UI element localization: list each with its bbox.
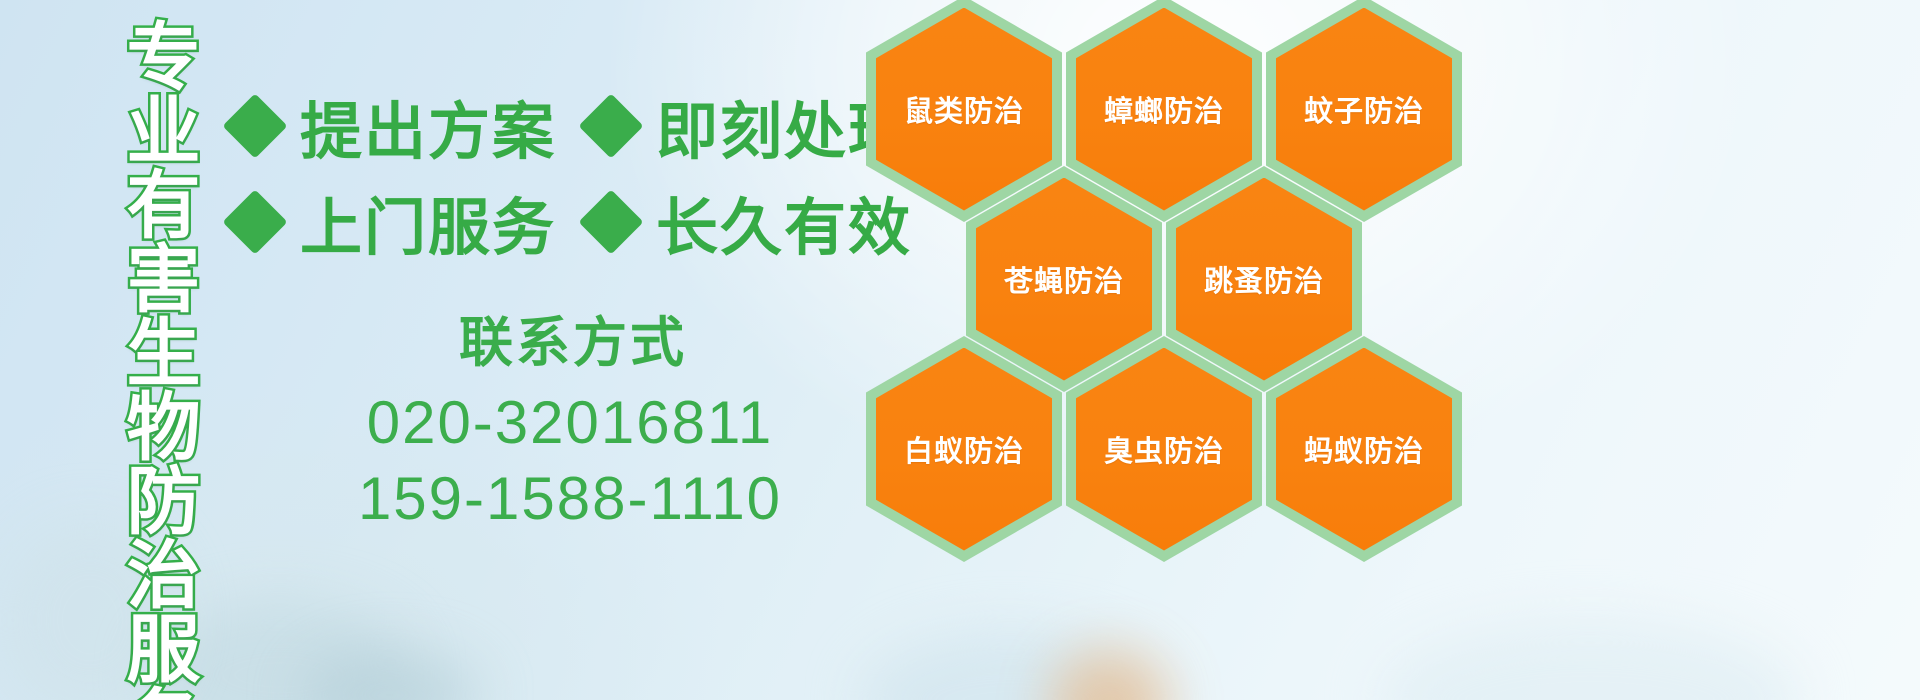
background-blur-blob <box>860 630 1160 700</box>
hex-label: 臭虫防治 <box>1104 428 1224 470</box>
diamond-bullet-icon <box>578 189 643 254</box>
hex-inner: 蚂蚁防治 <box>1276 348 1452 551</box>
slogan-item-label: 提出方案 <box>300 81 556 171</box>
vertical-headline: 专业有害生物防治服务 <box>104 18 196 658</box>
slogan-row: 上门服务 长久有效 <box>232 174 872 270</box>
hex-inner: 鼠类防治 <box>876 8 1052 211</box>
slogan-row: 提出方案 即刻处理 <box>232 78 872 174</box>
phone-landline[interactable]: 020-32016811 <box>290 384 850 462</box>
hex-label: 蚂蚁防治 <box>1304 428 1424 470</box>
slogan-item-label: 上门服务 <box>300 177 556 267</box>
hex-label: 鼠类防治 <box>904 88 1024 130</box>
hex-inner: 蚊子防治 <box>1276 8 1452 211</box>
hex-inner: 白蚁防治 <box>876 348 1052 551</box>
service-honeycomb: 鼠类防治 蟑螂防治 蚊子防治 苍蝇防治 跳蚤防治 白蚁防治 <box>852 0 1472 560</box>
diamond-bullet-icon <box>222 189 287 254</box>
phone-mobile[interactable]: 159-1588-1110 <box>290 460 850 538</box>
hex-inner: 苍蝇防治 <box>976 178 1152 381</box>
hex-inner: 跳蚤防治 <box>1176 178 1352 381</box>
hex-label: 苍蝇防治 <box>1004 258 1124 300</box>
background-blur-blob <box>1380 620 1800 700</box>
slogan-list: 提出方案 即刻处理 上门服务 长久有效 <box>232 78 872 270</box>
hex-label: 蟑螂防治 <box>1104 88 1224 130</box>
diamond-bullet-icon <box>222 93 287 158</box>
background-blur-blob <box>300 650 480 700</box>
hex-label: 蚊子防治 <box>1304 88 1424 130</box>
banner-root: 专业有害生物防治服务 提出方案 即刻处理 上门服务 长久有效 联系方式 020-… <box>0 0 1920 700</box>
diamond-bullet-icon <box>578 93 643 158</box>
contact-block: 联系方式 020-32016811 159-1588-1110 <box>290 312 850 538</box>
hex-label: 跳蚤防治 <box>1204 258 1324 300</box>
background-blur-blob <box>1050 650 1170 700</box>
hex-label: 白蚁防治 <box>904 428 1024 470</box>
contact-title: 联系方式 <box>296 312 850 374</box>
hex-inner: 蟑螂防治 <box>1076 8 1252 211</box>
hex-inner: 臭虫防治 <box>1076 348 1252 551</box>
